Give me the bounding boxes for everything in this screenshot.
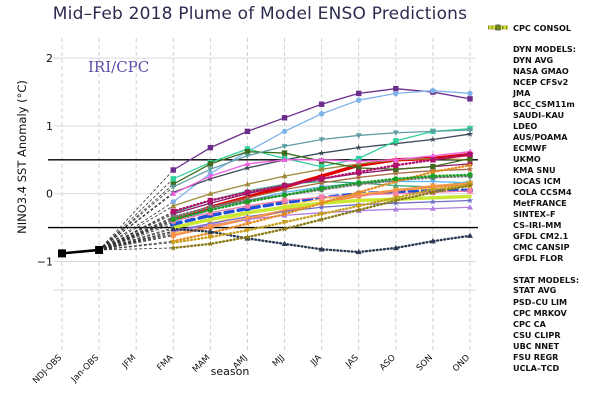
legend-item-label: BCC_CSM11m xyxy=(513,99,575,109)
legend-swatch-icon xyxy=(487,340,509,351)
svg-text:2: 2 xyxy=(46,52,53,65)
svg-text:SON: SON xyxy=(415,353,435,373)
legend-item-label: FSU REGR xyxy=(513,352,558,362)
legend-item-ukmo[interactable]: UKMO xyxy=(487,153,600,164)
legend-item-label: UBC NNET xyxy=(513,341,559,351)
legend-spacer xyxy=(487,33,600,41)
svg-text:0: 0 xyxy=(46,188,53,201)
legend-item-label: ECMWF xyxy=(513,143,547,153)
legend-item-dyn-avg[interactable]: DYN AVG xyxy=(487,54,600,65)
legend-item-kma-snu[interactable]: KMA SNU xyxy=(487,165,600,176)
legend-item-label: JMA xyxy=(513,88,530,98)
legend-item-label: NASA GMAO xyxy=(513,66,569,76)
legend-item-gfdl-cm2-1[interactable]: GFDL CM2.1 xyxy=(487,231,600,242)
legend-item-label: IOCAS ICM xyxy=(513,176,561,186)
legend-item-label: SINTEX–F xyxy=(513,209,555,219)
legend-item-label: CPC MRKOV xyxy=(513,308,567,318)
legend-swatch-icon xyxy=(487,351,509,362)
legend-swatch-icon xyxy=(487,76,509,87)
legend-item-label: NCEP CFSv2 xyxy=(513,77,568,87)
legend-swatch-icon xyxy=(487,231,509,242)
legend-item-saudi-kau[interactable]: SAUDI–KAU xyxy=(487,109,600,120)
legend-item-label: UCLA–TCD xyxy=(513,363,559,373)
legend-swatch-icon xyxy=(487,120,509,131)
legend-item-label: LDEO xyxy=(513,121,537,131)
legend-swatch-icon xyxy=(487,98,509,109)
legend-swatch-icon xyxy=(487,318,509,329)
svg-text:IRI/CPC: IRI/CPC xyxy=(88,58,149,76)
legend-item-label: CS–IRI–MM xyxy=(513,220,561,230)
legend-swatch-icon xyxy=(487,307,509,318)
x-axis-label: season xyxy=(130,365,330,378)
legend-item-label: CMC CANSIP xyxy=(513,242,570,252)
legend-swatch-icon xyxy=(487,329,509,340)
y-axis-label: NINO3.4 SST Anomaly (°C) xyxy=(15,57,29,257)
legend-swatch-icon xyxy=(487,65,509,76)
legend-item-label: DYN AVG xyxy=(513,55,553,65)
legend-swatch-icon xyxy=(487,209,509,220)
legend-item-iocas-icm[interactable]: IOCAS ICM xyxy=(487,176,600,187)
legend-item-stat-avg[interactable]: STAT AVG xyxy=(487,285,600,296)
legend-item-label: CPC CA xyxy=(513,319,546,329)
legend-swatch-icon xyxy=(487,131,509,142)
legend-swatch-icon xyxy=(487,242,509,253)
legend-item-csu-clipr[interactable]: CSU CLIPR xyxy=(487,329,600,340)
svg-text:ASO: ASO xyxy=(378,353,398,373)
legend-item-label: SAUDI–KAU xyxy=(513,110,564,120)
legend-item-label: GFDL CM2.1 xyxy=(513,231,568,241)
legend-item-jma[interactable]: JMA xyxy=(487,87,600,98)
legend-swatch-icon xyxy=(487,253,509,264)
legend-item-label: STAT AVG xyxy=(513,285,556,295)
legend-swatch-icon xyxy=(487,187,509,198)
legend-swatch-icon xyxy=(487,54,509,65)
legend-item-label: KMA SNU xyxy=(513,165,556,175)
legend-item-label: UKMO xyxy=(513,154,541,164)
legend-item-label: GFDL FLOR xyxy=(513,253,563,263)
svg-text:Jan-OBS: Jan-OBS xyxy=(69,353,101,385)
legend-item-label: CPC CONSOL xyxy=(513,23,571,33)
legend-item-metfrance[interactable]: MetFRANCE xyxy=(487,198,600,209)
svg-text:JAS: JAS xyxy=(343,353,360,370)
legend-swatch-icon xyxy=(487,220,509,231)
legend-swatch-icon xyxy=(487,362,509,373)
legend-item-label: CSU CLIPR xyxy=(513,330,561,340)
legend-swatch-icon xyxy=(487,165,509,176)
legend-item-cs-iri-mm[interactable]: CS–IRI–MM xyxy=(487,220,600,231)
legend-item-sintex-f[interactable]: SINTEX–F xyxy=(487,209,600,220)
legend-item-label: MetFRANCE xyxy=(513,198,567,208)
legend-stat-header: STAT MODELS: xyxy=(487,272,600,285)
legend-item-cmc-cansip[interactable]: CMC CANSIP xyxy=(487,242,600,253)
legend-item-gfdl-flor[interactable]: GFDL FLOR xyxy=(487,253,600,264)
legend-dyn-header: DYN MODELS: xyxy=(487,41,600,54)
legend-spacer xyxy=(487,264,600,272)
legend-item-cpc-mrkov[interactable]: CPC MRKOV xyxy=(487,307,600,318)
legend-item-cpc-ca[interactable]: CPC CA xyxy=(487,318,600,329)
svg-text:OND: OND xyxy=(451,353,472,374)
svg-text:−1: −1 xyxy=(37,256,53,269)
legend-swatch-icon xyxy=(487,198,509,209)
svg-text:NDJ-OBS: NDJ-OBS xyxy=(31,353,64,386)
legend-swatch-icon xyxy=(487,296,509,307)
legend-item-bcc-csm11m[interactable]: BCC_CSM11m xyxy=(487,98,600,109)
legend-item-ncep-cfsv2[interactable]: NCEP CFSv2 xyxy=(487,76,600,87)
svg-text:1: 1 xyxy=(46,120,53,133)
legend-item-ecmwf[interactable]: ECMWF xyxy=(487,142,600,153)
legend-swatch-icon xyxy=(487,153,509,164)
legend-item-nasa-gmao[interactable]: NASA GMAO xyxy=(487,65,600,76)
legend-swatch-icon xyxy=(487,176,509,187)
legend-item-ubc-nnet[interactable]: UBC NNET xyxy=(487,340,600,351)
legend-item-ucla-tcd[interactable]: UCLA–TCD xyxy=(487,362,600,373)
legend-swatch-icon xyxy=(487,87,509,98)
legend-item-fsu-regr[interactable]: FSU REGR xyxy=(487,351,600,362)
legend-swatch-icon xyxy=(487,109,509,120)
legend-item-psd-cu-lim[interactable]: PSD–CU LIM xyxy=(487,296,600,307)
legend-item-aus-poama[interactable]: AUS/POAMA xyxy=(487,131,600,142)
legend-item-cola-ccsm4[interactable]: COLA CCSM4 xyxy=(487,187,600,198)
legend-item-ldeo[interactable]: LDEO xyxy=(487,120,600,131)
chart-legend: CPC CONSOLDYN MODELS:DYN AVGNASA GMAONCE… xyxy=(487,22,600,373)
legend-item-label: PSD–CU LIM xyxy=(513,297,567,307)
legend-swatch-icon xyxy=(487,285,509,296)
legend-item-label: COLA CCSM4 xyxy=(513,187,572,197)
legend-item-label: AUS/POAMA xyxy=(513,132,568,142)
legend-swatch-icon xyxy=(487,142,509,153)
